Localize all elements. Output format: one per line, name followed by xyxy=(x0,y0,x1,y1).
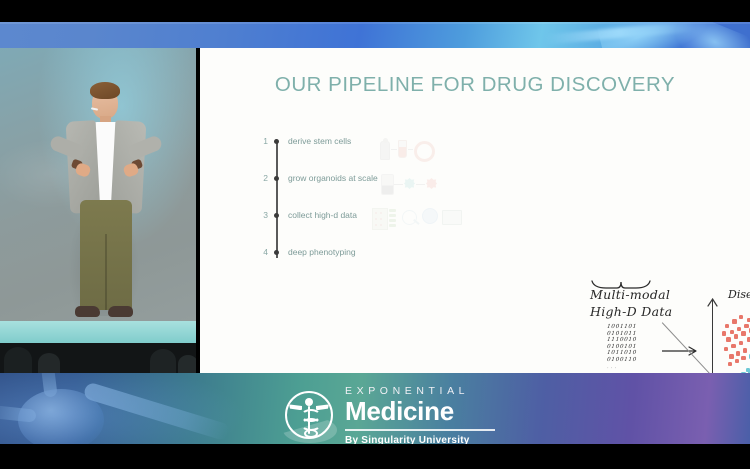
neuron-graphic xyxy=(0,373,220,444)
step-label: collect high-d data xyxy=(288,210,357,220)
brand-text: EXPONENTIAL Medicine By Singularity Univ… xyxy=(345,385,495,444)
annotation-multimodal-line1: Multi-modal xyxy=(590,287,670,302)
step-dot-icon xyxy=(274,139,279,144)
brand-tagline: By Singularity University xyxy=(345,435,495,444)
label-diseased: Diseased xyxy=(728,288,750,301)
top-blue-band xyxy=(0,22,750,48)
pipeline-step-4: 4 deep phenotyping xyxy=(258,245,356,259)
scatter-point-diseased xyxy=(739,341,743,345)
scatter-point-diseased xyxy=(728,362,732,366)
letterbox-top xyxy=(0,0,750,22)
scatter-point-diseased xyxy=(734,334,738,338)
step-label: grow organoids at scale xyxy=(288,173,378,183)
speaker-figure xyxy=(0,48,196,373)
pipeline-step-2: 2 grow organoids at scale xyxy=(258,171,378,185)
step-number: 1 xyxy=(258,136,268,146)
step-label: derive stem cells xyxy=(288,136,351,146)
cell-imaging-icon xyxy=(422,208,438,224)
organoid-icon xyxy=(426,178,437,189)
neuron-axon xyxy=(83,381,231,441)
connector-icon xyxy=(391,149,397,150)
scatter-point-diseased xyxy=(741,331,745,335)
step-number: 2 xyxy=(258,173,268,183)
step-number: 3 xyxy=(258,210,268,220)
binary-data-block: 1001101 0101011 1110010 0100101 1011010 … xyxy=(607,324,637,370)
gel-bands-icon xyxy=(389,209,397,228)
step-dot-icon xyxy=(274,250,279,255)
step-dot-icon xyxy=(274,213,279,218)
microplate-icon xyxy=(372,208,388,230)
step-number: 4 xyxy=(258,247,268,257)
person-icon xyxy=(380,141,390,160)
y-axis-arrowhead-icon xyxy=(707,298,718,307)
step-2-illustration xyxy=(378,172,488,194)
scatter-point-diseased xyxy=(722,331,726,335)
scatter-point-diseased xyxy=(729,354,733,358)
scatter-point-diseased xyxy=(741,356,745,360)
binary-row-ellipsis: ... xyxy=(607,364,638,371)
test-tube-icon xyxy=(398,140,407,158)
connector-icon xyxy=(394,184,403,185)
annotation-multimodal-line2: High-D Data xyxy=(590,304,672,319)
connector-icon xyxy=(408,149,413,150)
screenshot-stage: OUR PIPELINE FOR DRUG DISCOVERY 1 derive… xyxy=(0,0,750,469)
organoid-icon xyxy=(404,178,415,189)
step-dot-icon xyxy=(274,176,279,181)
presentation-slide: OUR PIPELINE FOR DRUG DISCOVERY 1 derive… xyxy=(200,48,750,373)
binary-row: 1011010 xyxy=(607,350,638,357)
magnifier-icon xyxy=(402,210,417,225)
arrow-right-icon xyxy=(662,346,704,356)
step-label: deep phenotyping xyxy=(288,247,356,257)
scatter-point-diseased xyxy=(739,315,743,319)
slide-title: OUR PIPELINE FOR DRUG DISCOVERY xyxy=(200,73,750,97)
brand-lockup: EXPONENTIAL Medicine By Singularity Univ… xyxy=(285,385,495,444)
letterbox-bottom xyxy=(0,444,750,469)
pipeline-step-1: 1 derive stem cells xyxy=(258,134,351,148)
band-swirl-right xyxy=(663,22,750,48)
connector-icon xyxy=(416,184,425,185)
scatter-point-diseased xyxy=(736,351,740,355)
petri-ring-icon xyxy=(414,141,435,162)
speaker-video-panel xyxy=(0,48,196,373)
timeline-axis xyxy=(276,142,278,258)
scatter-point-diseased xyxy=(744,324,748,328)
caduceus-logo-icon xyxy=(285,391,333,439)
instrument-icon xyxy=(442,210,462,225)
step-1-illustration xyxy=(378,136,488,158)
brand-divider xyxy=(345,429,495,430)
binary-row: 1001101 xyxy=(607,324,638,331)
y-axis xyxy=(712,300,713,378)
speaker-shoe-left xyxy=(75,306,100,317)
scatter-point-diseased xyxy=(731,344,735,348)
pipeline-step-3: 3 collect high-d data xyxy=(258,208,357,222)
trouser-seam xyxy=(105,234,107,310)
scatter-point-diseased xyxy=(724,347,728,351)
binary-row: 0100110 xyxy=(607,357,638,364)
brand-footer-band: EXPONENTIAL Medicine By Singularity Univ… xyxy=(0,373,750,444)
bioreactor-icon xyxy=(381,174,394,195)
scatter-point-diseased xyxy=(735,359,739,363)
scatter-point-diseased xyxy=(743,348,747,352)
scatter-point-diseased xyxy=(725,324,729,328)
step-3-illustration xyxy=(372,206,492,230)
binary-row: 1110010 xyxy=(607,337,638,344)
scatter-point-diseased xyxy=(726,337,730,341)
brand-medicine: Medicine xyxy=(345,398,495,425)
scatter-point-diseased xyxy=(732,319,736,323)
speaker-shoe-right xyxy=(108,306,133,317)
speaker-hair xyxy=(90,82,120,99)
